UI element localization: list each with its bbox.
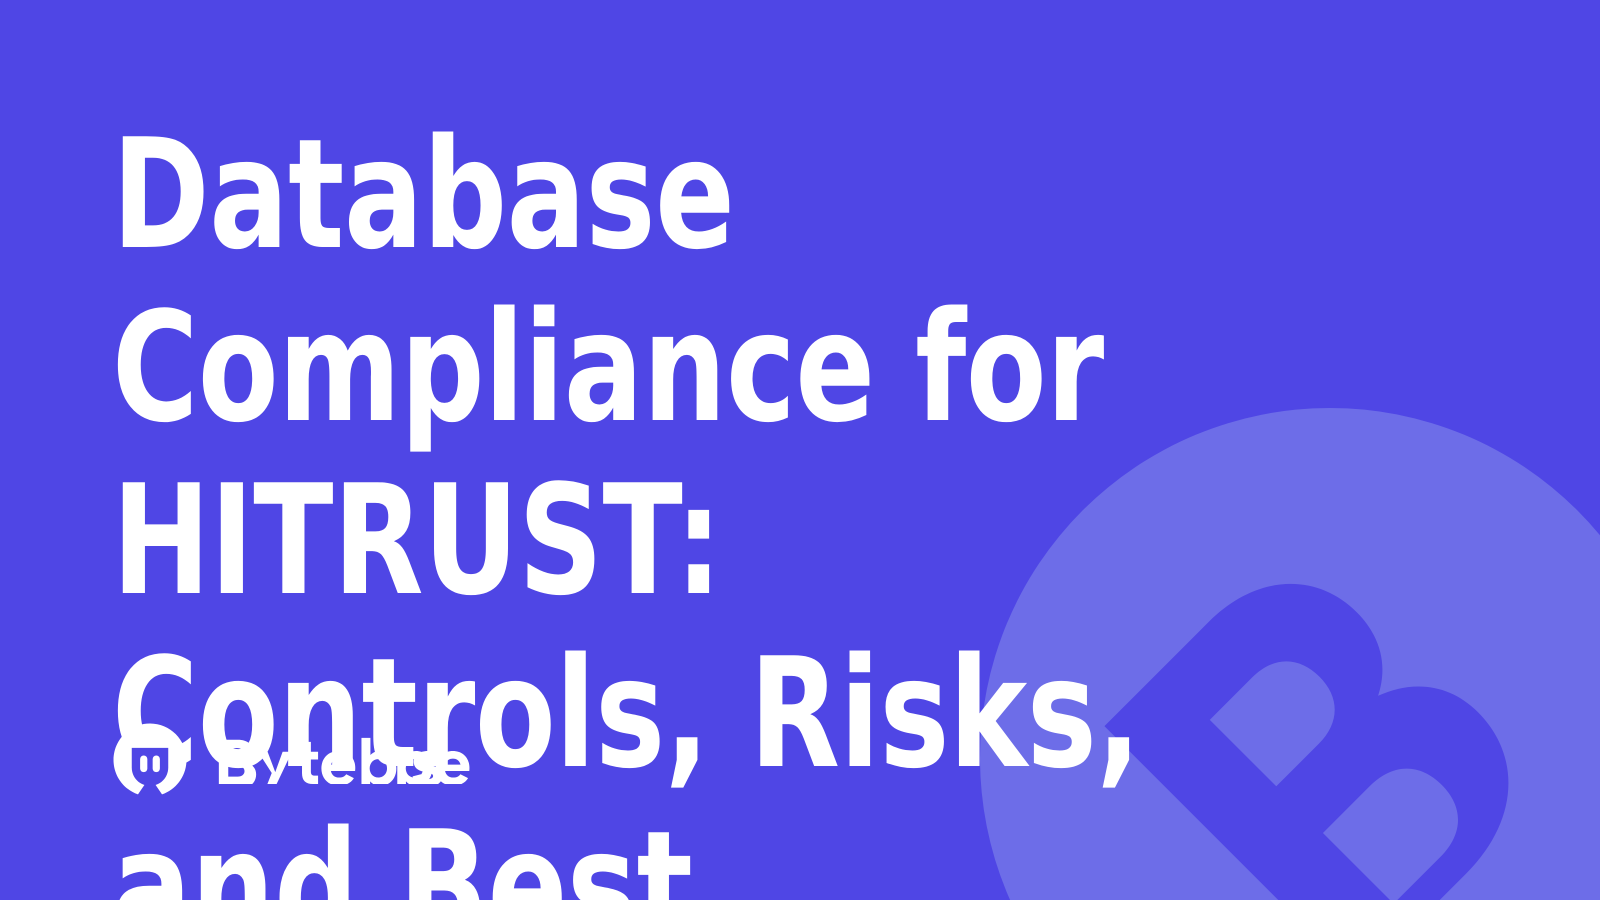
cover-canvas: Database Compliance for HITRUST: Control… bbox=[0, 0, 1600, 900]
bytebase-logo-lockup bbox=[112, 722, 492, 798]
bytebase-speech-bubble-icon bbox=[112, 722, 188, 798]
bytebase-wordmark bbox=[206, 736, 492, 784]
